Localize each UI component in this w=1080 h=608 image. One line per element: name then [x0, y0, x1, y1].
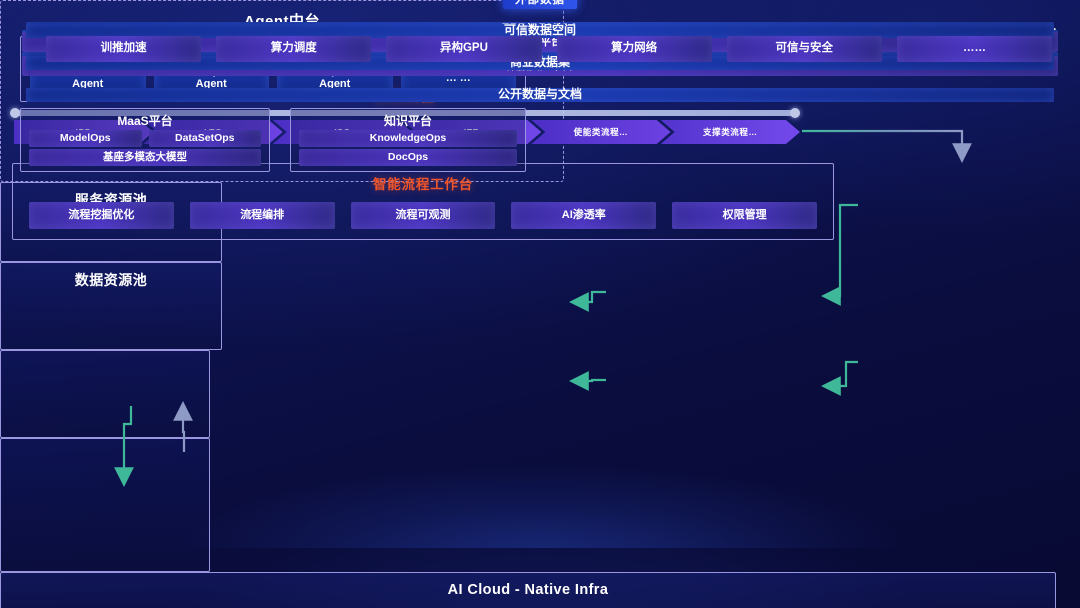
maas-item-modelops[interactable]: ModelOps: [29, 130, 142, 147]
external-item-public-data-docs[interactable]: 公开数据与文档: [26, 88, 1054, 102]
infra-item-train-infer-accel[interactable]: 训推加速: [46, 36, 201, 62]
infra-title: AI Cloud - Native Infra: [1, 582, 1055, 598]
knowledge-title: 知识平台: [291, 112, 525, 129]
maas-item-foundation-model[interactable]: 基座多模态大模型: [29, 149, 261, 166]
workbench-item-observability[interactable]: 流程可观测: [351, 202, 496, 229]
infra-item-heterogeneous-gpu[interactable]: 异构GPU: [386, 36, 541, 62]
connector-external-to-data-pool: [832, 362, 858, 386]
knowledge-item-knowledgeops[interactable]: KnowledgeOps: [299, 130, 517, 147]
slide-canvas: AI for Process框架——AI原生的企业数智化技术参考架构 神州数码 …: [0, 0, 1080, 608]
workbench-item-process-mining[interactable]: 流程挖掘优化: [29, 202, 174, 229]
connector-flow-to-legacy: [802, 131, 962, 152]
infra-item-more[interactable]: ……: [897, 36, 1052, 62]
data-pool-title: 数据资源池: [1, 270, 221, 290]
knowledge-item-docops[interactable]: DocOps: [299, 149, 517, 166]
connector-data-pool-to-agent: [580, 380, 606, 381]
external-data-panel: 外部数据 可信数据空间 商业数据集 公开数据与文档: [0, 438, 210, 572]
infra-item-trust-security[interactable]: 可信与安全: [727, 36, 882, 62]
workbench-item-ai-penetration[interactable]: AI渗透率: [511, 202, 656, 229]
connector-legacy-to-service-pool: [832, 205, 858, 296]
maas-title: MaaS平台: [21, 112, 269, 129]
workbench-item-orchestration[interactable]: 流程编排: [190, 202, 335, 229]
intelligent-process-workbench-panel: 智能流程工作台 流程挖掘优化 流程编排 流程可观测 AI渗透率 权限管理: [12, 163, 834, 240]
external-data-title: 外部数据: [503, 0, 577, 9]
infra-item-compute-scheduling[interactable]: 算力调度: [216, 36, 371, 62]
maas-platform-panel: MaaS平台 ModelOps DataSetOps 基座多模态大模型: [20, 108, 270, 172]
flow-stage-supporting[interactable]: 支撑类流程…: [661, 120, 800, 144]
ai-cloud-native-infra-panel: AI Cloud - Native Infra 训推加速 算力调度 异构GPU …: [0, 572, 1056, 608]
legacy-applications-panel: 传统应用 ERP/CRM/OA … …: [0, 350, 210, 438]
maas-item-datasetops[interactable]: DataSetOps: [149, 130, 262, 147]
flow-stage-enabling[interactable]: 使能类流程…: [531, 120, 670, 144]
workbench-item-permissions[interactable]: 权限管理: [672, 202, 817, 229]
infra-item-compute-network[interactable]: 算力网络: [557, 36, 712, 62]
knowledge-platform-panel: 知识平台 KnowledgeOps DocOps: [290, 108, 526, 172]
data-resource-pool-panel: 数据资源池 指标平台 数据资产平台: [0, 262, 222, 350]
connector-service-pool-to-agent: [580, 292, 606, 302]
workbench-title: 智能流程工作台: [13, 173, 833, 193]
